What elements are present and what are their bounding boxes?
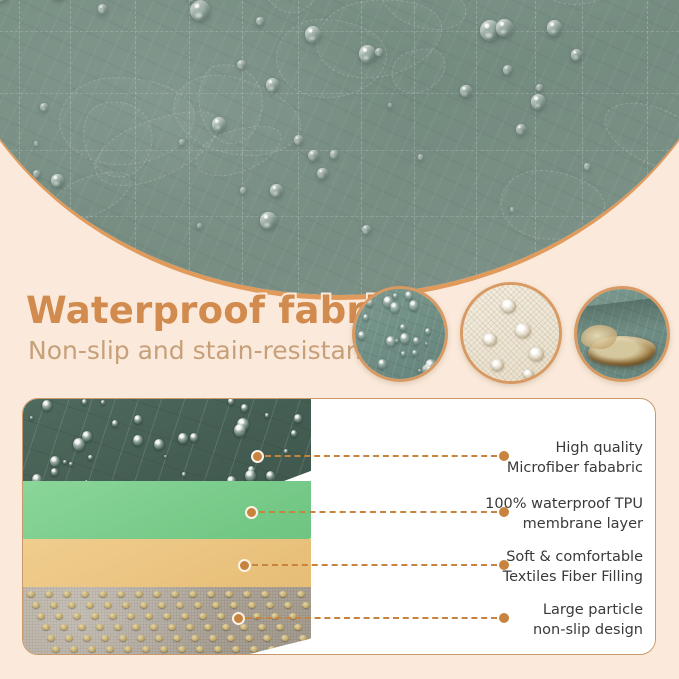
non-slip-particles — [23, 587, 311, 655]
callout-leader-line — [246, 617, 497, 619]
layer-non-slip-base — [23, 587, 311, 655]
label-line-1: Large particle — [533, 600, 643, 620]
label-line-2: Microfiber fababric — [507, 458, 643, 478]
hero-fabric-photo — [0, 0, 679, 300]
callout-leader-line — [252, 564, 497, 566]
callout-anchor-dot — [245, 506, 258, 519]
headline-block: Waterproof fabric Non-slip and stain-res… — [26, 292, 386, 364]
callout-end-dot — [499, 507, 509, 517]
inset-cream-fabric-beading — [460, 282, 562, 384]
inset-water-beading — [352, 286, 448, 382]
callout-anchor-dot — [238, 559, 251, 572]
page-title: Waterproof fabric — [26, 292, 386, 331]
layer-diagram-card: High quality Microfiber fababric 100% wa… — [22, 398, 656, 655]
infographic-canvas: Waterproof fabric Non-slip and stain-res… — [0, 0, 679, 679]
callout-anchor-dot — [232, 612, 245, 625]
page-subtitle: Non-slip and stain-resistant — [28, 337, 386, 365]
inset-coffee-spill — [574, 286, 670, 382]
label-non-slip: Large particle non-slip design — [533, 600, 643, 640]
callout-end-dot — [499, 451, 509, 461]
hero-fabric-texture — [0, 0, 679, 300]
quilting-stitch-pattern — [0, 0, 679, 300]
callout-end-dot — [499, 613, 509, 623]
label-line-1: High quality — [507, 438, 643, 458]
label-filling: Soft & comfortable Textiles Fiber Fillin… — [503, 547, 643, 587]
callout-leader-line — [259, 511, 497, 513]
callout-leader-line — [265, 455, 497, 457]
label-line-2: Textiles Fiber Filling — [503, 567, 643, 587]
label-line-1: Soft & comfortable — [503, 547, 643, 567]
label-line-2: membrane layer — [485, 514, 643, 534]
label-line-2: non-slip design — [533, 620, 643, 640]
label-microfiber: High quality Microfiber fababric — [507, 438, 643, 478]
inset2-fabric — [460, 282, 562, 384]
callout-end-dot — [499, 560, 509, 570]
callout-anchor-dot — [251, 450, 264, 463]
label-tpu: 100% waterproof TPU membrane layer — [485, 494, 643, 534]
